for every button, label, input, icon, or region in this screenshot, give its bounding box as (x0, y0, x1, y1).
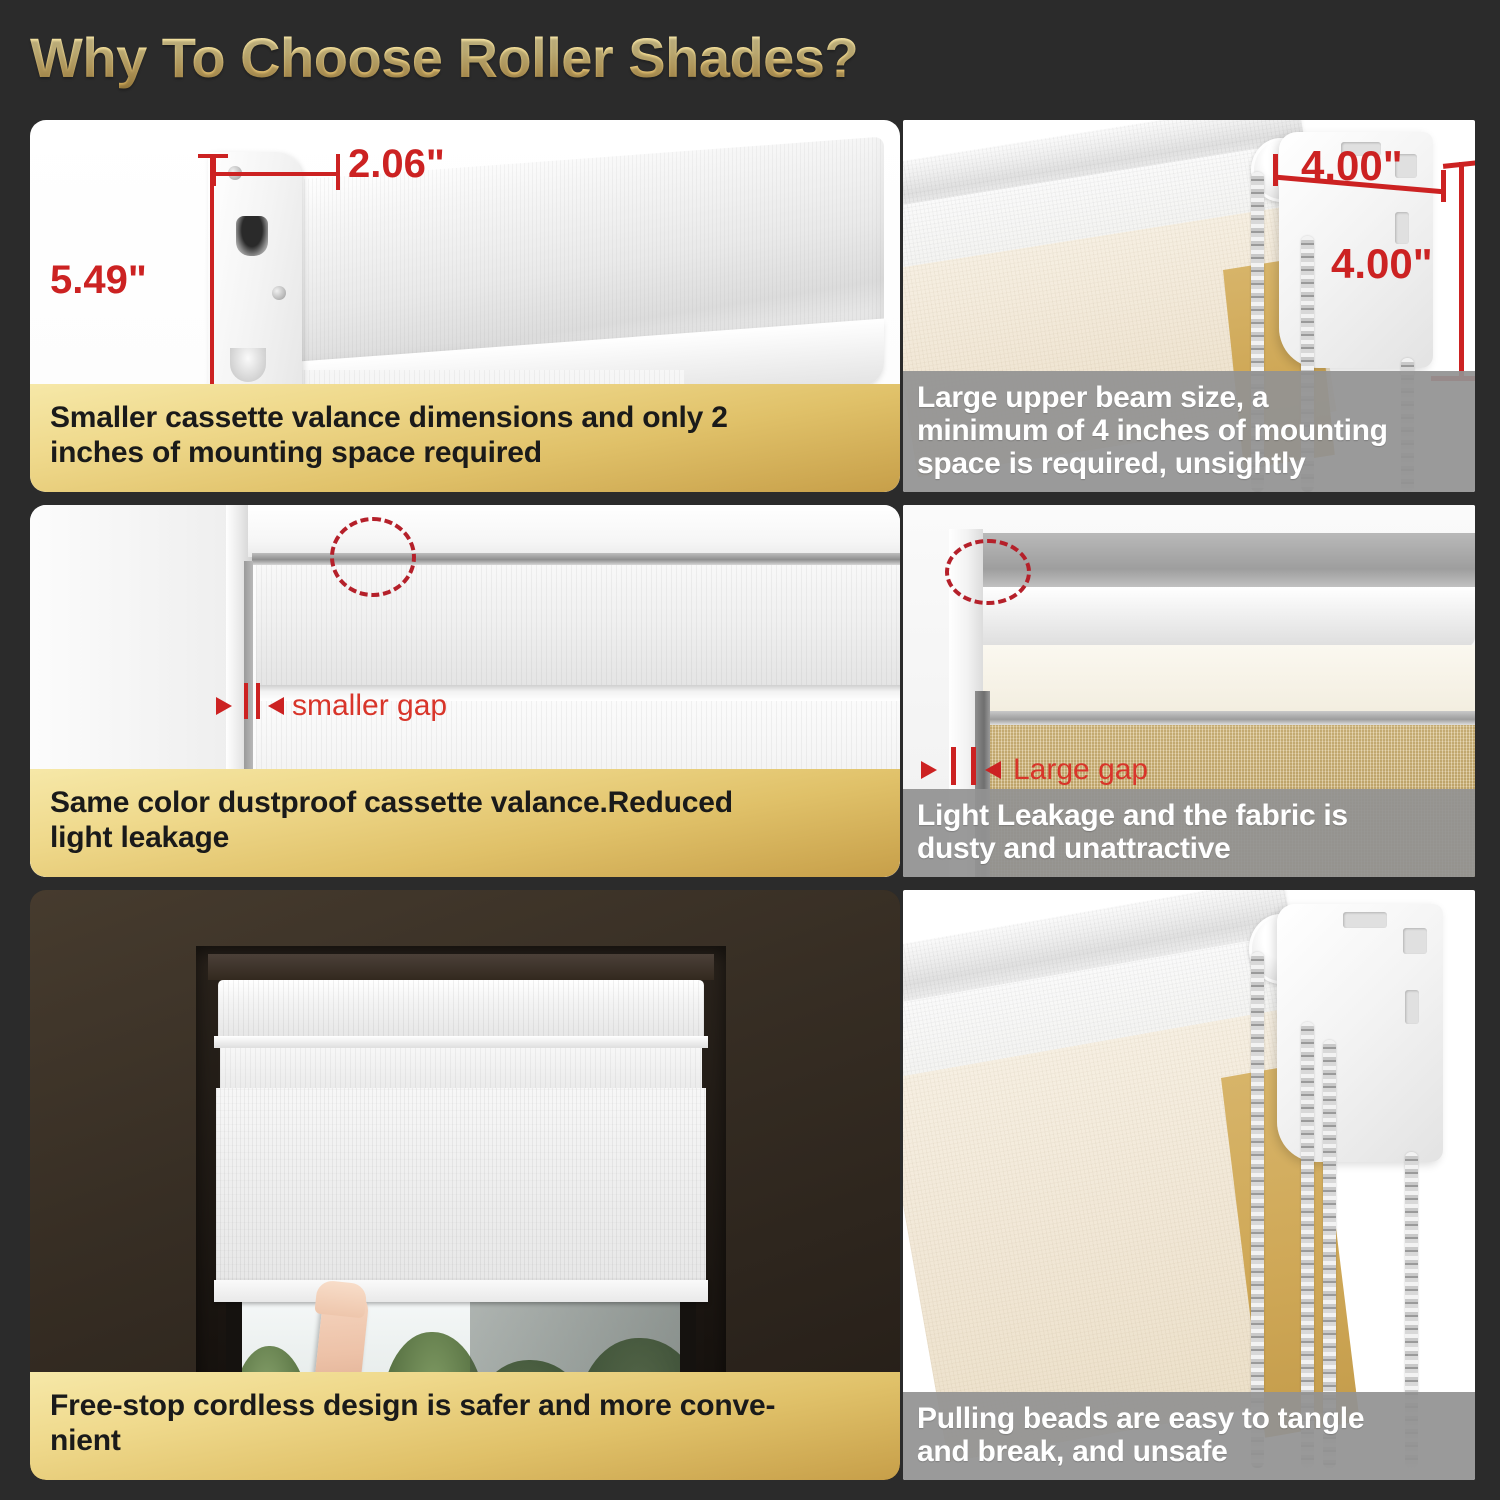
caption-pulling-beads-tangle: Pulling beads are easy to tangle and bre… (903, 1392, 1475, 1480)
bottom-rail (214, 1280, 708, 1302)
gap-mark-left (244, 683, 248, 719)
gap-label-smaller: smaller gap (292, 689, 447, 723)
dim-tick-height-top (198, 154, 228, 158)
dim-tick-beam-right (1441, 170, 1446, 202)
gap-mark-left (951, 747, 956, 785)
gap-label-large: Large gap (1013, 753, 1148, 787)
dim-tick-beam-left (1273, 154, 1278, 186)
dimension-label-beam-height: 4.00" (1331, 240, 1433, 288)
dim-line-width (212, 172, 340, 176)
dim-line-beam-height (1459, 162, 1464, 380)
dimension-label-beam-width: 4.00" (1301, 142, 1403, 190)
caption-line-1: Light Leakage and the fabric is (917, 799, 1461, 832)
panel-free-stop-cordless-window[interactable]: Free-stop cordless design is safer and m… (30, 890, 900, 1480)
caption-line-2: inches of mounting space required (50, 435, 880, 470)
caption-line-2: light leakage (50, 820, 880, 855)
caption-line-2: minimum of 4 inches of mounting (917, 414, 1461, 447)
caption-dustproof-cassette-valance: Same color dustproof cassette valance.Re… (30, 769, 900, 877)
caption-line-3: space is required, unsightly (917, 447, 1461, 480)
caption-large-upper-beam: Large upper beam size, a minimum of 4 in… (903, 371, 1475, 492)
page-title: Why To Choose Roller Shades? (30, 22, 1230, 94)
dimension-label-height: 5.49" (50, 258, 147, 303)
caption-line-1: Pulling beads are easy to tangle (917, 1402, 1461, 1435)
panel-pulling-beads-tangle[interactable]: Pulling beads are easy to tangle and bre… (903, 890, 1475, 1480)
hand-fingers (314, 1279, 367, 1318)
panel-dustproof-cassette-valance[interactable]: smaller gap Same color dustproof cassett… (30, 505, 900, 877)
gap-mark-right (256, 683, 260, 719)
caption-free-stop-cordless-window: Free-stop cordless design is safer and m… (30, 1372, 900, 1480)
caption-cassette-valance-dimensions: Smaller cassette valance dimensions and … (30, 384, 900, 492)
panel-cassette-valance-dimensions[interactable]: 2.06" 5.49" Smaller cassette valance dim… (30, 120, 900, 492)
dim-tick-width-right (336, 154, 340, 190)
highlight-circle-icon (945, 539, 1031, 605)
caption-line-1: Free-stop cordless design is safer and m… (50, 1388, 880, 1423)
caption-line-2: dusty and unattractive (917, 832, 1461, 865)
gap-arrow-left-icon (216, 697, 232, 715)
gap-mark-right (971, 747, 976, 785)
caption-line-2: and break, and unsafe (917, 1435, 1461, 1468)
caption-light-leakage-dusty-fabric: Light Leakage and the fabric is dusty an… (903, 789, 1475, 877)
bead-chain (1251, 952, 1264, 1468)
panel-large-upper-beam[interactable]: 4.00" 4.00" Large upper beam size, a min… (903, 120, 1475, 492)
caption-line-1: Large upper beam size, a (917, 381, 1461, 414)
panel-light-leakage-dusty-fabric[interactable]: Large gap Light Leakage and the fabric i… (903, 505, 1475, 877)
gap-arrow-right-icon (268, 697, 284, 715)
highlight-circle-icon (330, 517, 416, 597)
caption-line-1: Same color dustproof cassette valance.Re… (50, 785, 880, 820)
gap-arrow-left-icon (921, 761, 937, 779)
dimension-label-width: 2.06" (348, 142, 445, 187)
gap-arrow-right-icon (985, 761, 1001, 779)
caption-line-1: Smaller cassette valance dimensions and … (50, 400, 880, 435)
caption-line-2: nient (50, 1423, 880, 1458)
